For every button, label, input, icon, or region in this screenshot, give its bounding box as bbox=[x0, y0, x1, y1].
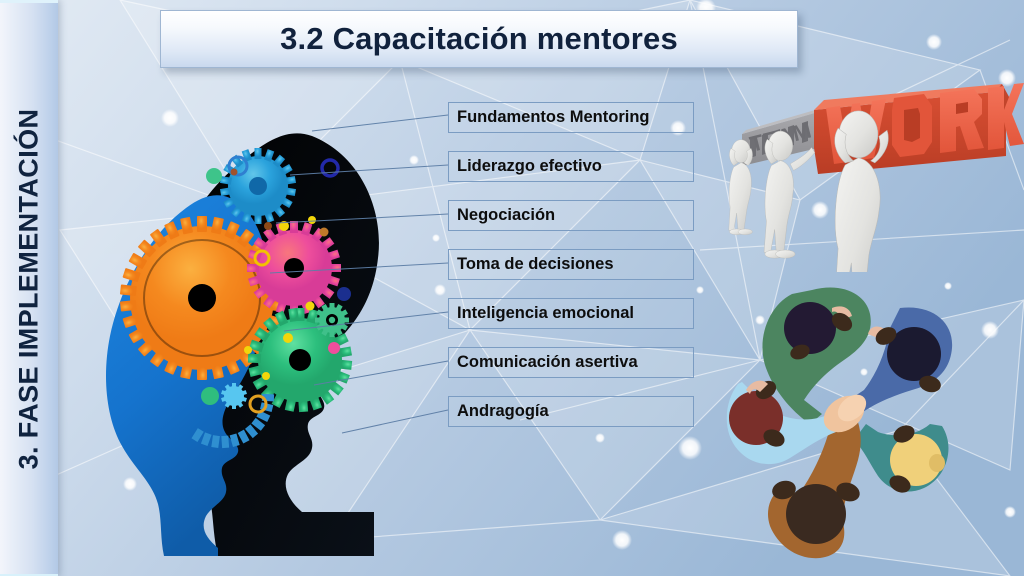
topic-item[interactable]: Toma de decisiones bbox=[448, 249, 694, 280]
topic-label: Fundamentos Mentoring bbox=[457, 108, 650, 127]
topic-item[interactable]: Negociación bbox=[448, 200, 694, 231]
person-teal bbox=[854, 422, 948, 496]
topic-label: Comunicación asertiva bbox=[457, 353, 638, 372]
topic-label: Andragogía bbox=[457, 402, 549, 421]
topic-label: Inteligencia emocional bbox=[457, 304, 634, 323]
topic-label: Toma de decisiones bbox=[457, 255, 614, 274]
people-holding-hands-circle-illustration bbox=[694, 272, 1010, 564]
topic-label: Negociación bbox=[457, 206, 555, 225]
slide-canvas: 3. FASE IMPLEMENTACIÓN 3.2 Capacitación … bbox=[0, 0, 1024, 576]
topic-item[interactable]: Inteligencia emocional bbox=[448, 298, 694, 329]
sidebar-phase-banner: 3. FASE IMPLEMENTACIÓN bbox=[0, 0, 58, 576]
topic-item[interactable]: Fundamentos Mentoring bbox=[448, 102, 694, 133]
slide-title-bar: 3.2 Capacitación mentores bbox=[160, 10, 798, 68]
topic-item[interactable]: Liderazgo efectivo bbox=[448, 151, 694, 182]
topic-item[interactable]: Andragogía bbox=[448, 396, 694, 427]
topics-list: Fundamentos Mentoring Liderazgo efectivo… bbox=[448, 102, 694, 445]
teamwork-3d-figures-illustration: TEAM bbox=[706, 82, 1024, 272]
topic-item[interactable]: Comunicación asertiva bbox=[448, 347, 694, 378]
sidebar-phase-label: 3. FASE IMPLEMENTACIÓN bbox=[14, 108, 45, 469]
topic-label: Liderazgo efectivo bbox=[457, 157, 602, 176]
connector-lines bbox=[270, 95, 470, 435]
page-title: 3.2 Capacitación mentores bbox=[280, 21, 678, 57]
